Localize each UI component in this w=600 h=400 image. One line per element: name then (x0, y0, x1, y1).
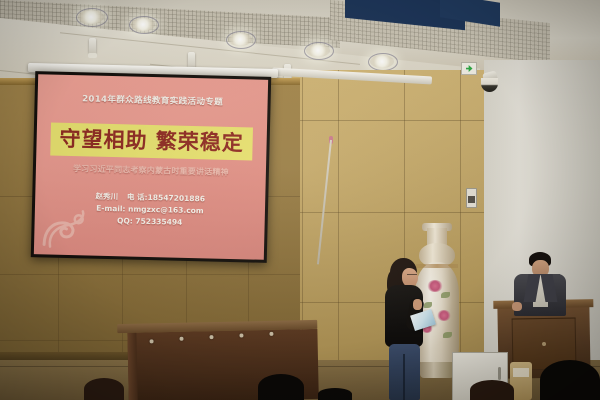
podium-knob (542, 342, 546, 346)
exit-arrow-icon (466, 65, 473, 72)
speaker-hand (512, 302, 522, 311)
audience-head (258, 374, 304, 400)
vase-leaf-motif (441, 292, 450, 298)
speaker-man (512, 252, 568, 312)
contact-name: 赵秀川 (95, 192, 118, 202)
slide-heading-band: 守望相助 繁荣稳定 (50, 123, 253, 161)
audience-head (318, 388, 352, 400)
slide-contact-block: 赵秀川电 话:18547201886 E-mail: nmgzxc@163.co… (35, 189, 266, 231)
table-leg (127, 333, 137, 400)
ceiling-downlight-ring (304, 42, 334, 60)
presenter-woman (378, 258, 434, 400)
exit-sign (461, 62, 477, 75)
slide-heading: 守望相助 繁荣稳定 (59, 129, 244, 154)
slide-title-line: 2014年群众路线教育实践活动专题 (38, 91, 268, 109)
vase-leaf-motif (443, 332, 452, 338)
audience-head (540, 360, 600, 400)
slide-subtitle: 学习习近平同志考察内蒙古时重要讲话精神 (36, 162, 266, 179)
ceiling-downlight-ring (76, 8, 108, 27)
presentation-slide: 2014年群众路线教育实践活动专题 守望相助 繁荣稳定 学习习近平同志考察内蒙古… (34, 74, 268, 260)
table-stud (269, 332, 273, 336)
table-stud (209, 335, 213, 339)
audience-head (84, 378, 124, 400)
presenter-glasses (407, 274, 417, 278)
presenter-legs-jeans (389, 344, 420, 400)
ceiling-downlight-ring (368, 53, 398, 71)
ceiling-downlight-ring (129, 16, 159, 34)
spotlight-fixture (89, 38, 96, 55)
vase-floral-motif (437, 310, 451, 321)
ceiling-downlight-ring (226, 31, 256, 49)
wall-panel-seam (0, 274, 300, 275)
table-stud (150, 339, 154, 343)
projection-screen: 2014年群众路线教育实践活动专题 守望相助 繁荣稳定 学习习近平同志考察内蒙古… (31, 71, 271, 263)
audience-head (470, 380, 514, 400)
lecture-hall-photo: 2014年群众路线教育实践活动专题 守望相助 繁荣稳定 学习习近平同志考察内蒙古… (0, 0, 600, 400)
contact-phone: 电 话:18547201886 (127, 192, 205, 203)
wall-panel-seam (292, 120, 492, 121)
wall-switch[interactable] (466, 188, 477, 208)
table-stud (239, 333, 243, 337)
presenter-hand (413, 299, 422, 310)
